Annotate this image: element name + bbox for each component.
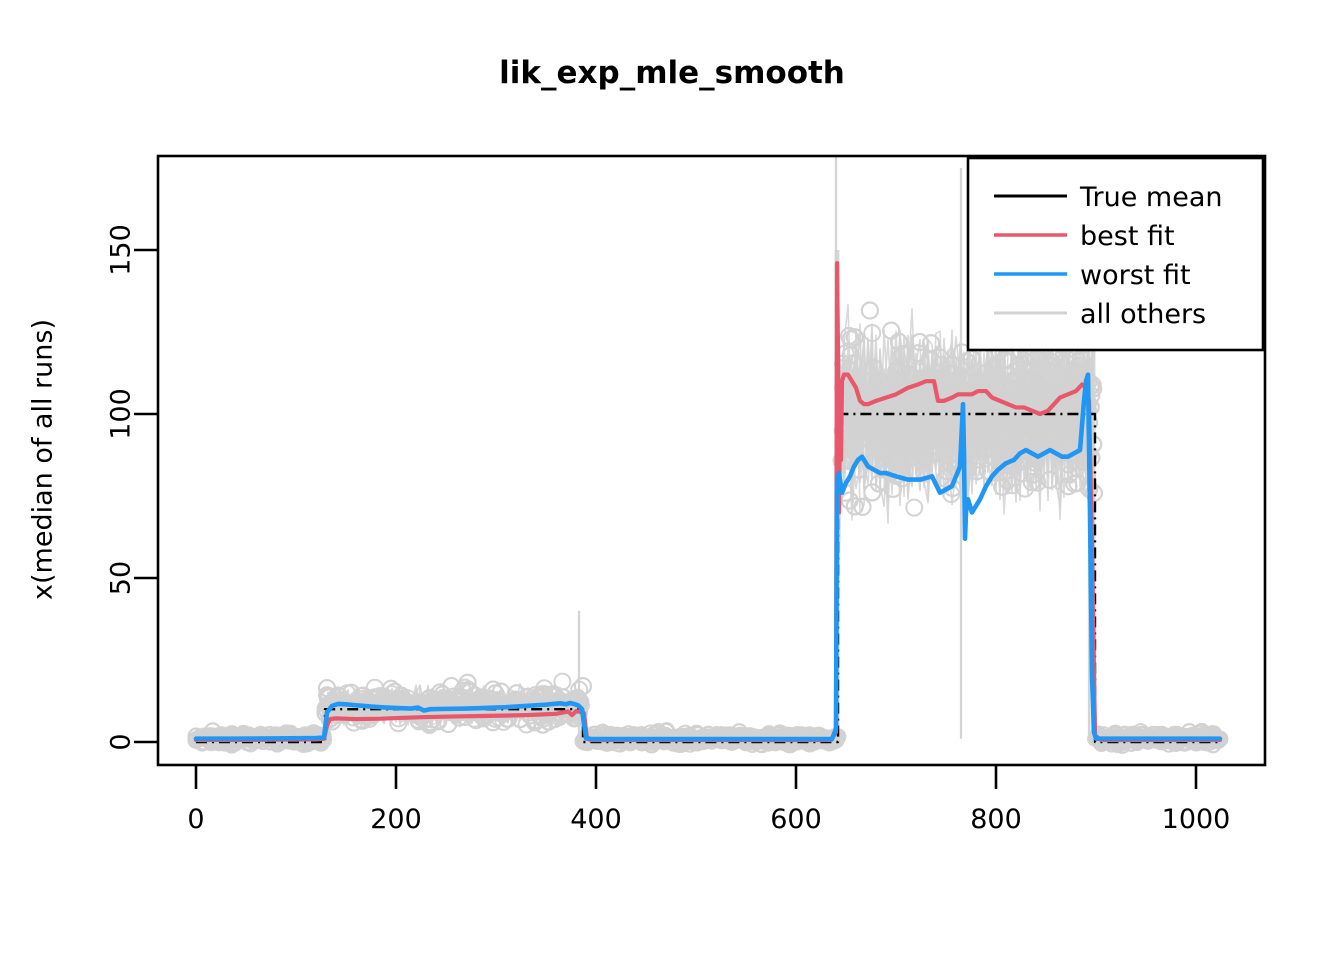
legend-label: all others	[1080, 299, 1206, 330]
legend-label: True mean	[1079, 182, 1223, 213]
y-tick-label: 150	[106, 224, 137, 276]
x-tick-label: 200	[370, 804, 422, 835]
x-axis-ticks: 02004006008001000	[187, 766, 1230, 835]
x-tick-label: 0	[187, 804, 204, 835]
y-axis-ticks: 050100150	[106, 224, 158, 750]
x-tick-label: 800	[970, 804, 1022, 835]
x-tick-label: 600	[770, 804, 822, 835]
x-tick-label: 1000	[1162, 804, 1231, 835]
y-tick-label: 0	[106, 733, 137, 750]
x-tick-label: 400	[570, 804, 622, 835]
y-tick-label: 50	[106, 561, 137, 595]
legend-label: worst fit	[1080, 260, 1191, 291]
chart-legend: True meanbest fitworst fitall others	[968, 158, 1263, 350]
plot-area: 02004006008001000 050100150 True meanbes…	[0, 0, 1344, 960]
legend-label: best fit	[1080, 221, 1175, 252]
chart-root: lik_exp_mle_smooth x(median of all runs)…	[0, 0, 1344, 960]
y-tick-label: 100	[106, 388, 137, 440]
